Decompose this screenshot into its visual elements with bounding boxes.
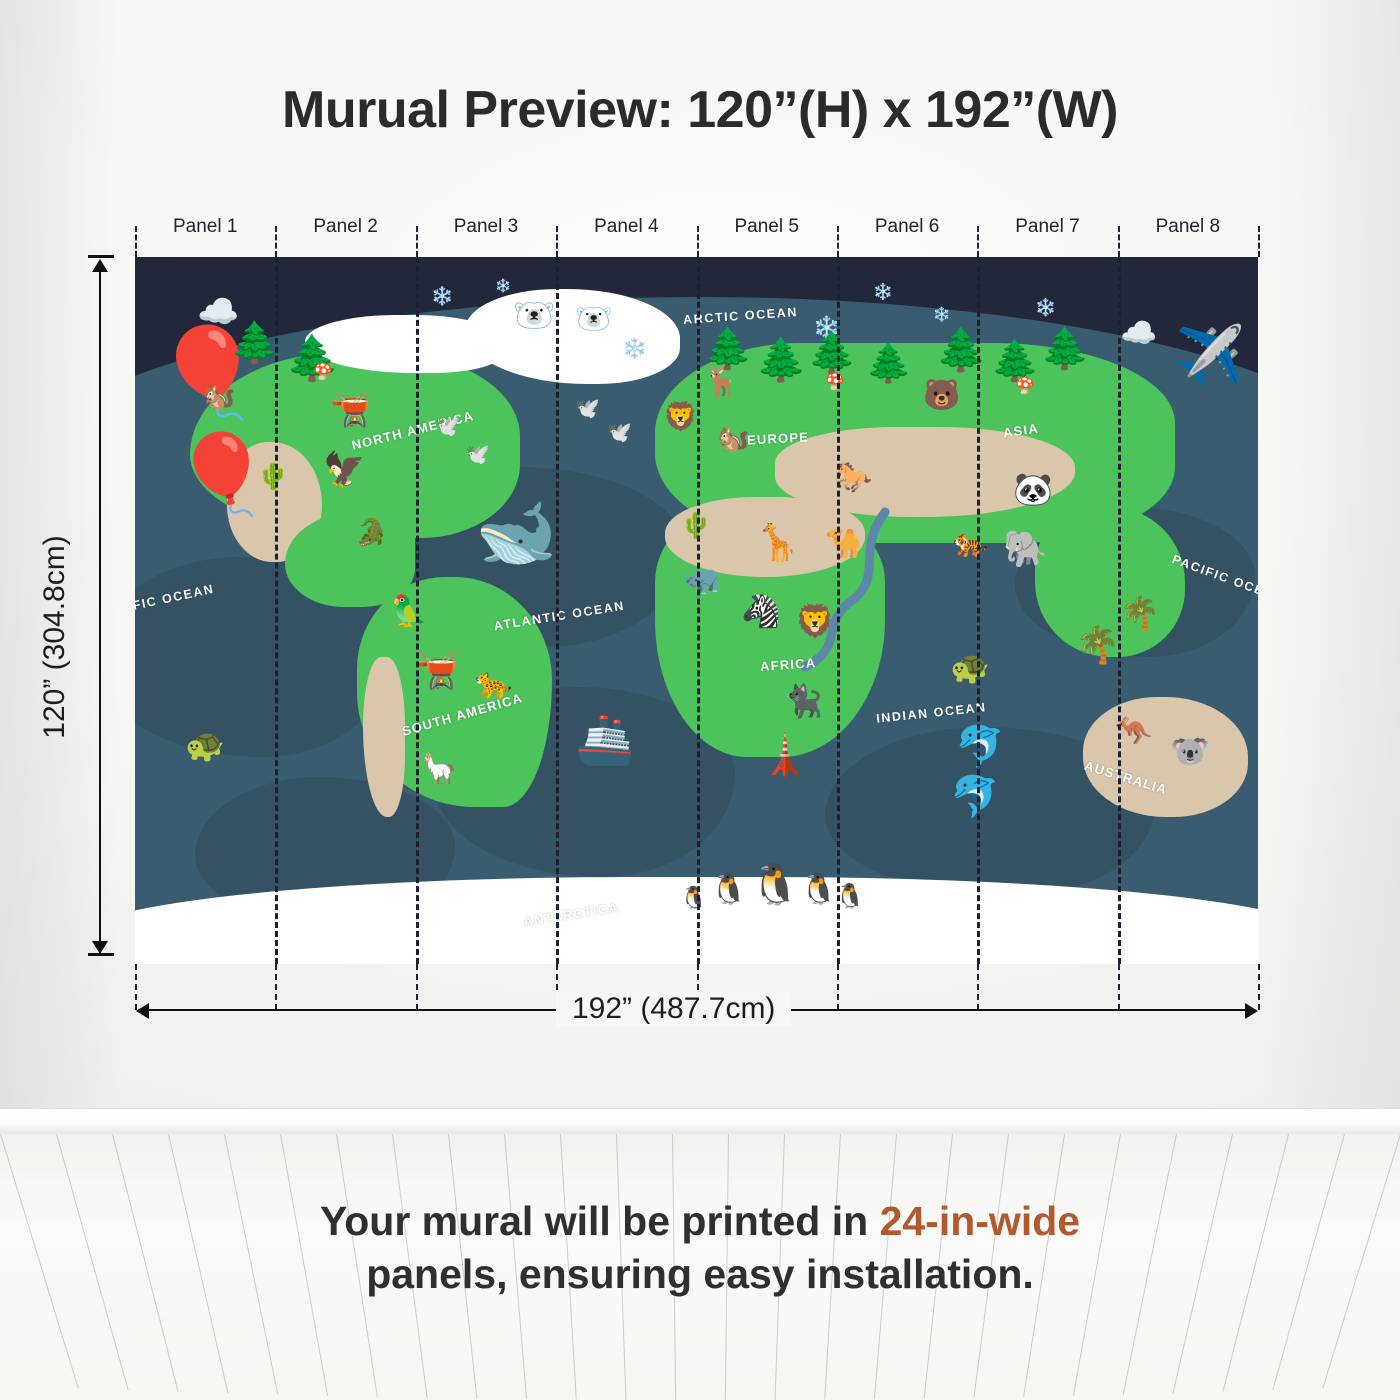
height-tick-top <box>88 255 114 258</box>
height-dimension-label: 120” (304.8cm) <box>38 317 72 957</box>
panel-label-4: Panel 4 <box>556 216 696 238</box>
footer-caption: Your mural will be printed in 24-in-wide… <box>0 1195 1400 1302</box>
panel-guide-bottom-6 <box>977 964 979 1010</box>
alligator-icon: 🐊 <box>355 519 387 545</box>
panel-guide-top-7 <box>1118 226 1120 257</box>
lighthouse-icon: 🗼 <box>760 735 810 775</box>
polar-bear-icon: 🐻‍❄️ <box>575 305 612 335</box>
penguin-icon: 🐧 <box>800 875 837 905</box>
panda-icon: 🐼 <box>1013 473 1053 505</box>
panel-guide-top-1 <box>275 226 277 257</box>
pine-tree-icon: 🌲 <box>755 339 807 381</box>
sea-turtle-icon: 🐢 <box>950 651 990 683</box>
snowflake-icon: ❄️ <box>933 307 950 321</box>
birds-flock-icon: 🕊️ <box>607 423 632 443</box>
dolphin-icon: 🐬 <box>950 777 1000 817</box>
panel-guide-bottom-8 <box>1258 964 1260 1010</box>
panel-label-7: Panel 7 <box>977 216 1117 238</box>
camel-icon: 🐪 <box>825 529 862 559</box>
cloud-icon: ☁️ <box>1120 319 1157 349</box>
mushroom-icon: 🍄 <box>313 365 333 381</box>
panel-seam-1 <box>275 257 278 964</box>
tiger-icon: 🐅 <box>953 529 988 557</box>
snowflake-icon: ❄️ <box>431 287 453 305</box>
palm-tree-icon: 🌴 <box>1075 627 1120 663</box>
mushroom-icon: 🍄 <box>1015 379 1035 395</box>
pine-tree-icon: 🌲 <box>865 345 912 383</box>
squirrel-icon: 🐿️ <box>203 383 235 409</box>
panel-guide-top-4 <box>697 226 699 257</box>
squirrel-icon: 🐿️ <box>717 425 749 451</box>
elephant-icon: 🐘 <box>1003 531 1048 567</box>
mural-preview[interactable]: NORTH AMERICASOUTH AMERICAEUROPEAFRICAAS… <box>135 257 1258 964</box>
parrot-icon: 🦜 <box>390 597 427 627</box>
penguin-icon: 🐧 <box>710 875 747 905</box>
panel-label-2: Panel 2 <box>275 216 415 238</box>
panel-seam-2 <box>416 257 419 964</box>
snowflake-icon: ❄️ <box>495 279 511 292</box>
pine-tree-icon: 🌲 <box>990 341 1040 381</box>
panel-label-8: Panel 8 <box>1118 216 1258 238</box>
baseboard <box>0 1108 1400 1134</box>
lion-icon: 🦁 <box>795 605 835 637</box>
panel-seam-7 <box>1118 257 1121 964</box>
panel-guide-top-2 <box>416 226 418 257</box>
capybara-icon: 🫕 <box>415 653 460 689</box>
width-dimension-label: 192” (487.7cm) <box>556 992 791 1026</box>
snowflake-icon: ❄️ <box>622 339 647 359</box>
horse-icon: 🐎 <box>835 463 872 493</box>
pine-tree-icon: 🌲 <box>1040 329 1090 369</box>
panel-seam-3 <box>556 257 559 964</box>
panel-guide-top-6 <box>977 226 979 257</box>
sea-turtle-icon: 🐢 <box>185 729 225 761</box>
ship-icon: 🚢 <box>575 717 635 765</box>
pine-tree-icon: 🌲 <box>807 333 857 373</box>
caption-line-1-text: Your mural will be printed in <box>320 1198 880 1244</box>
snowflake-icon: ❄️ <box>1035 299 1056 316</box>
rhino-icon: 🦏 <box>683 565 720 595</box>
koala-icon: 🐨 <box>1170 735 1210 767</box>
whale-icon: 🐋 <box>475 499 557 565</box>
birds-flock-icon: 🕊️ <box>575 399 600 419</box>
airplane-icon: ✈️ <box>1175 327 1245 383</box>
pine-tree-icon: 🌲 <box>703 329 753 369</box>
panel-seam-5 <box>837 257 840 964</box>
panel-label-3: Panel 3 <box>416 216 556 238</box>
moose-icon: 🦌 <box>703 367 740 397</box>
wall-shadow-right <box>1260 0 1400 1108</box>
width-arrow-left <box>136 1003 149 1019</box>
panel-label-6: Panel 6 <box>837 216 977 238</box>
panel-label-1: Panel 1 <box>135 216 275 238</box>
jaguar-icon: 🐆 <box>475 669 512 699</box>
eagle-icon: 🦅 <box>323 453 365 487</box>
page-title: Murual Preview: 120”(H) x 192”(W) <box>0 80 1400 140</box>
panel-guide-bottom-2 <box>416 964 418 1010</box>
giraffe-icon: 🦒 <box>755 525 800 561</box>
llama-icon: 🦙 <box>420 755 457 785</box>
bear-icon: 🐻 <box>923 381 960 411</box>
panel-guide-top-3 <box>556 226 558 257</box>
width-arrow-right <box>1245 1003 1258 1019</box>
panel-guide-top-8 <box>1258 226 1260 257</box>
panel-guide-bottom-7 <box>1118 964 1120 1010</box>
caption-line-2: panels, ensuring easy installation. <box>0 1248 1400 1301</box>
cactus-icon: 🌵 <box>257 463 289 489</box>
height-tick-bottom <box>88 953 114 956</box>
panel-label-5: Panel 5 <box>697 216 837 238</box>
panther-icon: 🐈‍⬛ <box>783 685 823 717</box>
palm-tree-icon: 🌴 <box>1120 597 1160 629</box>
panel-guide-top-0 <box>135 226 137 257</box>
lion-europe-icon: 🦁 <box>663 403 698 431</box>
hot-air-balloon-pink-icon: 🎈 <box>173 435 270 513</box>
birds-flock-icon: 🕊️ <box>435 417 460 437</box>
panel-seam-4 <box>697 257 700 964</box>
penguin-icon: 🐧 <box>750 865 800 905</box>
birds-flock-icon: 🕊️ <box>465 445 490 465</box>
penguin-icon: 🐧 <box>680 887 707 909</box>
mushroom-icon: 🍄 <box>825 375 845 391</box>
pine-tree-icon: 🌲 <box>230 323 280 363</box>
panel-guide-bottom-5 <box>837 964 839 1010</box>
snowflake-icon: ❄️ <box>873 285 893 301</box>
caption-highlight: 24-in-wide <box>880 1198 1080 1244</box>
panel-guide-top-5 <box>837 226 839 257</box>
polar-bear-icon: 🐻‍❄️ <box>513 299 555 333</box>
landmass-australia <box>1083 697 1248 817</box>
panel-seam-6 <box>977 257 980 964</box>
zebra-icon: 🦓 <box>741 595 781 627</box>
beaver-icon: 🫕 <box>330 393 372 427</box>
panel-guide-bottom-1 <box>275 964 277 1010</box>
height-line <box>99 266 101 953</box>
caption-line-1: Your mural will be printed in 24-in-wide <box>0 1195 1400 1248</box>
